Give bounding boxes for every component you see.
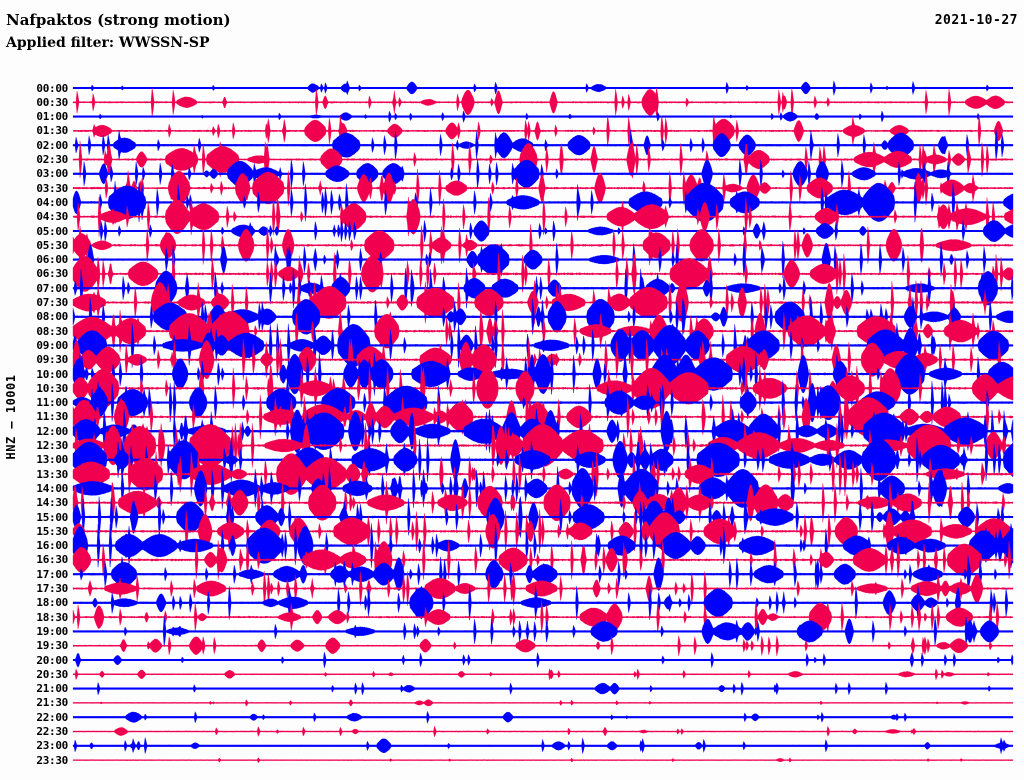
time-label: 01:30 bbox=[4, 125, 68, 136]
time-label: 04:30 bbox=[4, 211, 68, 222]
time-label: 00:00 bbox=[4, 83, 68, 94]
time-label: 07:00 bbox=[4, 283, 68, 294]
time-label: 18:00 bbox=[4, 597, 68, 608]
seismogram-traces bbox=[0, 0, 1024, 780]
time-label: 01:00 bbox=[4, 111, 68, 122]
time-label: 22:00 bbox=[4, 712, 68, 723]
time-label: 03:00 bbox=[4, 168, 68, 179]
time-label: 10:00 bbox=[4, 369, 68, 380]
time-label: 15:30 bbox=[4, 526, 68, 537]
time-label: 23:30 bbox=[4, 755, 68, 766]
time-label: 16:30 bbox=[4, 554, 68, 565]
time-label: 21:00 bbox=[4, 683, 68, 694]
time-label: 17:00 bbox=[4, 569, 68, 580]
time-label: 18:30 bbox=[4, 612, 68, 623]
time-label: 13:00 bbox=[4, 454, 68, 465]
time-label: 14:30 bbox=[4, 497, 68, 508]
time-label: 05:30 bbox=[4, 240, 68, 251]
time-label: 02:00 bbox=[4, 140, 68, 151]
time-label: 02:30 bbox=[4, 154, 68, 165]
helicorder-page: Nafpaktos (strong motion) Applied filter… bbox=[0, 0, 1024, 780]
time-axis: 00:0000:3001:0001:3002:0002:3003:0003:30… bbox=[0, 0, 68, 780]
time-label: 12:30 bbox=[4, 440, 68, 451]
time-label: 17:30 bbox=[4, 583, 68, 594]
time-label: 14:00 bbox=[4, 483, 68, 494]
time-label: 11:30 bbox=[4, 411, 68, 422]
time-label: 08:00 bbox=[4, 311, 68, 322]
time-label: 06:00 bbox=[4, 254, 68, 265]
time-label: 10:30 bbox=[4, 383, 68, 394]
time-label: 19:00 bbox=[4, 626, 68, 637]
helicorder-plot: 00:0000:3001:0001:3002:0002:3003:0003:30… bbox=[0, 0, 1024, 780]
time-label: 09:30 bbox=[4, 354, 68, 365]
time-label: 15:00 bbox=[4, 512, 68, 523]
time-label: 21:30 bbox=[4, 697, 68, 708]
time-label: 11:00 bbox=[4, 397, 68, 408]
time-label: 19:30 bbox=[4, 640, 68, 651]
time-label: 08:30 bbox=[4, 326, 68, 337]
time-label: 07:30 bbox=[4, 297, 68, 308]
time-label: 23:00 bbox=[4, 740, 68, 751]
time-label: 04:00 bbox=[4, 197, 68, 208]
time-label: 20:30 bbox=[4, 669, 68, 680]
time-label: 22:30 bbox=[4, 726, 68, 737]
time-label: 09:00 bbox=[4, 340, 68, 351]
time-label: 06:30 bbox=[4, 268, 68, 279]
time-label: 03:30 bbox=[4, 183, 68, 194]
time-label: 05:00 bbox=[4, 226, 68, 237]
time-label: 20:00 bbox=[4, 655, 68, 666]
time-label: 16:00 bbox=[4, 540, 68, 551]
time-label: 12:00 bbox=[4, 426, 68, 437]
time-label: 00:30 bbox=[4, 97, 68, 108]
time-label: 13:30 bbox=[4, 469, 68, 480]
